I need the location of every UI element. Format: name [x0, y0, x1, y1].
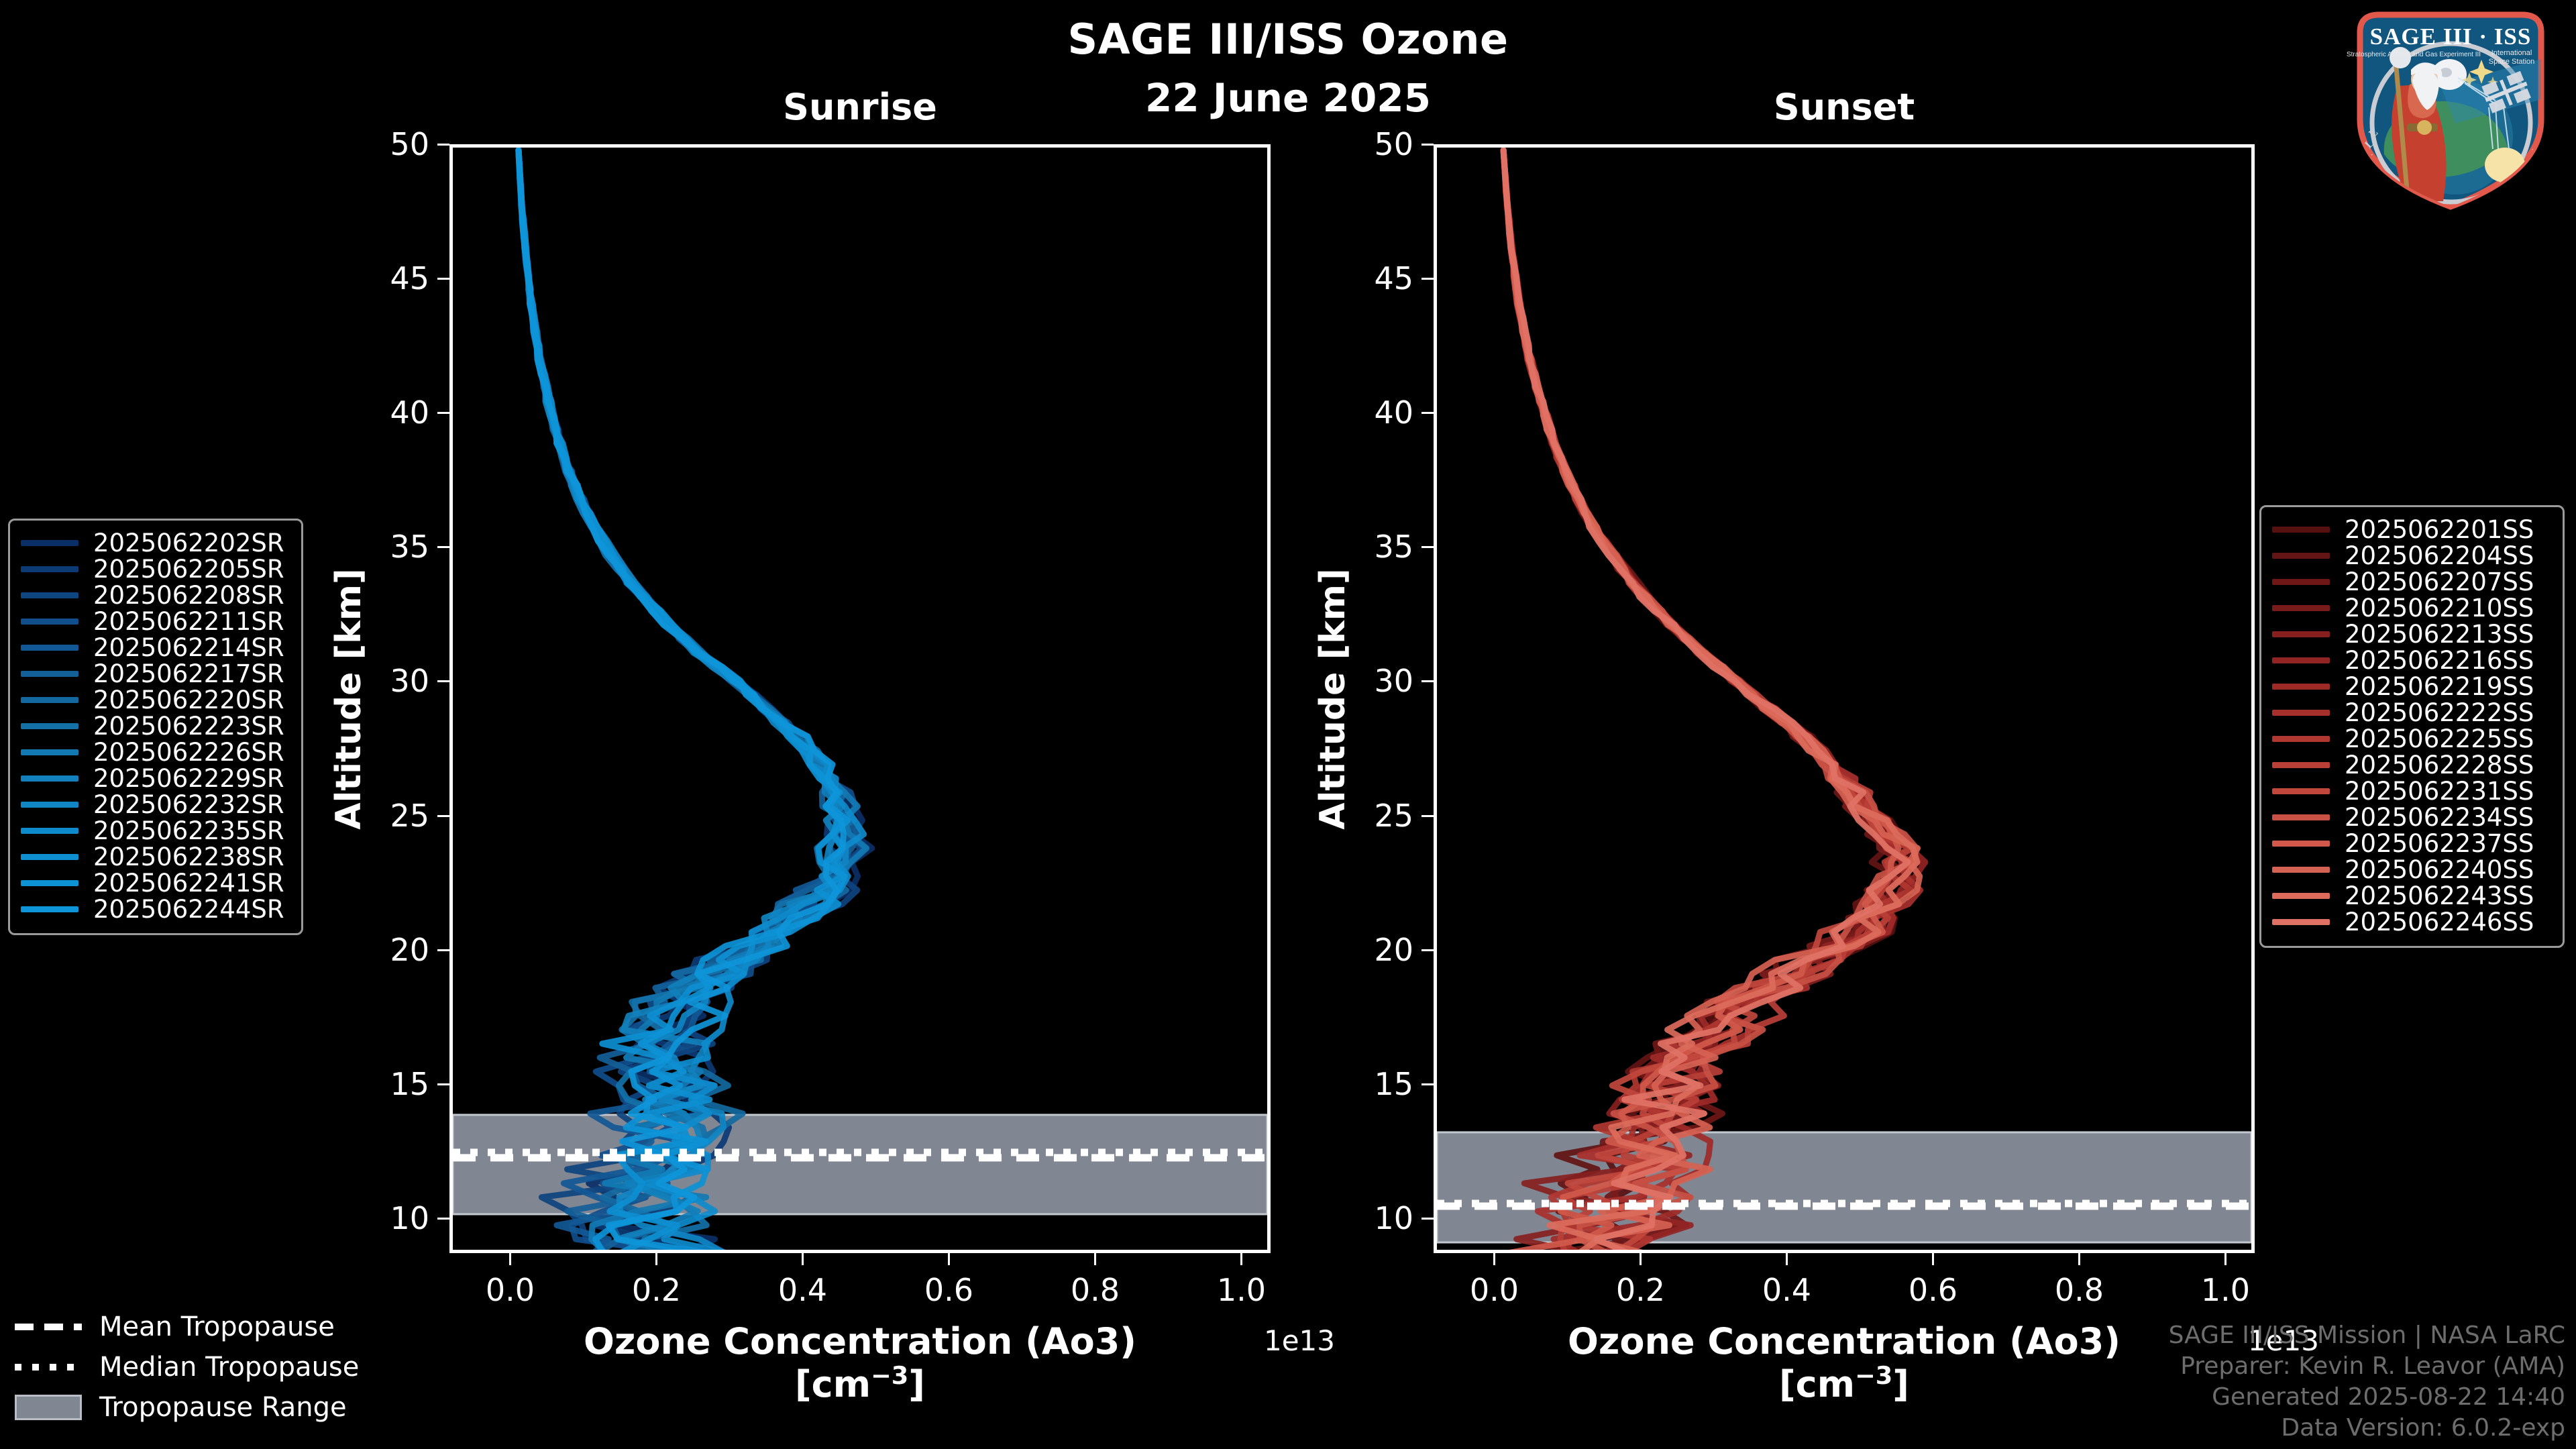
x-tick [1240, 1253, 1242, 1265]
legend-item-label: 2025062241SR [93, 869, 284, 898]
legend-color-swatch [21, 540, 78, 546]
legend-color-swatch [2272, 867, 2330, 873]
legend-item[interactable]: 2025062219SS [2272, 674, 2552, 700]
legend-color-swatch [2272, 736, 2330, 742]
y-tick [437, 546, 449, 548]
tropopause-range-icon [15, 1394, 82, 1421]
svg-text:S: S [2532, 156, 2546, 168]
legend-item-label: 2025062232SR [93, 790, 284, 819]
x-axis-exponent-sunrise: 1e13 [1264, 1324, 1335, 1357]
x-tick-label: 0.8 [1071, 1272, 1120, 1308]
legend-item[interactable]: 2025062243SS [2272, 883, 2552, 909]
legend-color-swatch [2272, 657, 2330, 663]
legend-item-label: 2025062231SS [2345, 777, 2534, 806]
legend-color-swatch [2272, 919, 2330, 925]
x-tick-label: 0.4 [1762, 1272, 1811, 1308]
legend-item-label: 2025062226SR [93, 738, 284, 767]
x-tick-label: 0.8 [2055, 1272, 2104, 1308]
svg-text:Space Station: Space Station [2489, 58, 2535, 66]
legend-color-swatch [21, 592, 78, 598]
legend-item-median-tropopause: Median Tropopause [15, 1347, 359, 1387]
legend-item-label: 2025062244SR [93, 895, 284, 924]
legend-item[interactable]: 2025062211SR [21, 608, 290, 635]
y-tick-label: 45 [1313, 260, 1413, 297]
y-axis-label-sunset: Altitude [km] [1313, 511, 1353, 887]
y-tick-label: 15 [1313, 1066, 1413, 1102]
legend-color-swatch [21, 566, 78, 572]
y-tick-label: 20 [1313, 932, 1413, 968]
legend-item[interactable]: 2025062220SR [21, 687, 290, 713]
x-tick [2078, 1253, 2080, 1265]
legend-color-swatch [21, 697, 78, 703]
y-tick-label: 45 [329, 260, 429, 297]
x-tick [655, 1253, 657, 1265]
legend-item[interactable]: 2025062202SR [21, 530, 290, 556]
legend-item-label: 2025062229SR [93, 764, 284, 793]
legend-color-swatch [21, 749, 78, 755]
legend-item-label: 2025062235SR [93, 816, 284, 845]
legend-item-label: 2025062202SR [93, 529, 284, 557]
x-tick-label: 0.2 [632, 1272, 681, 1308]
x-tick [1094, 1253, 1096, 1265]
y-tick-label: 10 [329, 1200, 429, 1236]
legend-item[interactable]: 2025062237SS [2272, 830, 2552, 857]
legend-color-swatch [2272, 684, 2330, 690]
legend-item-label: 2025062204SS [2345, 541, 2534, 570]
legend-color-swatch [2272, 788, 2330, 794]
legend-color-swatch [2272, 893, 2330, 899]
legend-item[interactable]: 2025062204SS [2272, 543, 2552, 569]
legend-item[interactable]: 2025062241SR [21, 870, 290, 896]
legend-item-label: 2025062234SS [2345, 803, 2534, 832]
legend-item-label: 2025062225SS [2345, 724, 2534, 753]
legend-color-swatch [2272, 841, 2330, 847]
legend-item-label: 2025062217SR [93, 659, 284, 688]
legend-color-swatch [21, 775, 78, 782]
y-tick-label: 15 [329, 1066, 429, 1102]
legend-item[interactable]: 2025062201SS [2272, 517, 2552, 543]
x-tick [509, 1253, 511, 1265]
legend-item-label: 2025062228SS [2345, 751, 2534, 780]
series-legend-sunset[interactable]: 2025062201SS2025062204SS2025062207SS2025… [2259, 505, 2565, 948]
x-tick [2224, 1253, 2226, 1265]
legend-color-swatch [2272, 631, 2330, 637]
x-tick-label: 0.6 [1909, 1272, 1957, 1308]
x-tick [1932, 1253, 1934, 1265]
legend-item-tropopause-range: Tropopause Range [15, 1387, 359, 1428]
y-tick [437, 949, 449, 951]
x-tick-label: 0.2 [1616, 1272, 1665, 1308]
legend-item[interactable]: 2025062222SS [2272, 700, 2552, 726]
median-tropopause-icon [15, 1354, 82, 1381]
legend-color-swatch [21, 723, 78, 729]
y-tick-label: 40 [329, 394, 429, 431]
y-tick [437, 815, 449, 817]
legend-item[interactable]: 2025062246SS [2272, 909, 2552, 935]
legend-item[interactable]: 2025062217SR [21, 661, 290, 687]
y-tick [437, 1218, 449, 1220]
credits-line-preparer: Preparer: Kevin R. Leavor (AMA) [2169, 1351, 2565, 1382]
legend-color-swatch [21, 802, 78, 808]
tropopause-range-band [453, 1115, 1267, 1214]
x-tick-label: 1.0 [1217, 1272, 1266, 1308]
x-axis-label-line1: Ozone Concentration (Ao3) [1434, 1322, 2255, 1362]
page-title: SAGE III/ISS Ozone [0, 15, 2576, 64]
legend-item-label: 2025062210SS [2345, 594, 2534, 623]
x-tick [1493, 1253, 1495, 1265]
mean-tropopause-label: Mean Tropopause [99, 1311, 335, 1342]
legend-item-label: 2025062220SR [93, 686, 284, 714]
x-axis-label-sunrise: Ozone Concentration (Ao3)[cm−3] [449, 1322, 1271, 1405]
x-axis-label-line2: [cm−3] [1434, 1362, 2255, 1405]
legend-item-label: 2025062238SR [93, 843, 284, 871]
x-tick [1640, 1253, 1642, 1265]
legend-item-label: 2025062214SR [93, 633, 284, 662]
legend-color-swatch [21, 671, 78, 677]
svg-text:Stratospheric Aerosol and Gas: Stratospheric Aerosol and Gas Experiment… [2347, 51, 2481, 58]
legend-item[interactable]: 2025062216SS [2272, 647, 2552, 674]
legend-item[interactable]: 2025062214SR [21, 635, 290, 661]
legend-item[interactable]: 2025062238SR [21, 844, 290, 870]
y-tick [437, 278, 449, 280]
y-tick [1421, 1083, 1434, 1085]
legend-item-label: 2025062211SR [93, 607, 284, 636]
y-tick-label: 10 [1313, 1200, 1413, 1236]
credits-line-mission: SAGE III/ISS Mission | NASA LaRC [2169, 1320, 2565, 1351]
legend-color-swatch [2272, 605, 2330, 611]
legend-item[interactable]: 2025062208SR [21, 582, 290, 608]
y-tick [1421, 412, 1434, 414]
y-tick [437, 680, 449, 682]
legend-color-swatch [21, 619, 78, 625]
x-axis-label-line2: [cm−3] [449, 1362, 1271, 1405]
legend-item-label: 2025062219SS [2345, 672, 2534, 701]
y-tick [1421, 949, 1434, 951]
legend-color-swatch [21, 854, 78, 860]
plot-area-sunset [1434, 144, 2255, 1253]
legend-item-label: 2025062243SS [2345, 881, 2534, 910]
y-axis-label-sunrise: Altitude [km] [329, 511, 369, 887]
legend-item-label: 2025062240SS [2345, 855, 2534, 884]
y-tick [1421, 815, 1434, 817]
tropopause-legend: Mean Tropopause Median Tropopause Tropop… [15, 1307, 359, 1428]
y-tick [1421, 1218, 1434, 1220]
y-tick [1421, 144, 1434, 146]
y-tick [1421, 278, 1434, 280]
x-tick [802, 1253, 804, 1265]
legend-item[interactable]: 2025062210SS [2272, 595, 2552, 621]
series-legend-sunrise[interactable]: 2025062202SR2025062205SR2025062208SR2025… [8, 519, 303, 935]
mean-tropopause-icon [15, 1313, 82, 1340]
x-tick [1786, 1253, 1788, 1265]
legend-color-swatch [21, 906, 78, 912]
legend-item-label: 2025062207SS [2345, 568, 2534, 596]
svg-text:A: A [2531, 169, 2546, 182]
legend-item[interactable]: 2025062205SR [21, 556, 290, 582]
legend-item-label: 2025062205SR [93, 555, 284, 584]
legend-color-swatch [2272, 762, 2330, 768]
y-tick-label: 50 [329, 126, 429, 162]
legend-color-swatch [2272, 579, 2330, 585]
credits-line-version: Data Version: 6.0.2-exp [2169, 1413, 2565, 1444]
legend-item[interactable]: 2025062229SR [21, 765, 290, 792]
x-tick [948, 1253, 950, 1265]
legend-item-label: 2025062223SR [93, 712, 284, 741]
legend-item[interactable]: 2025062232SR [21, 792, 290, 818]
y-tick [1421, 680, 1434, 682]
panel-title-sunset: Sunset [1434, 86, 2255, 128]
legend-item[interactable]: 2025062234SS [2272, 804, 2552, 830]
credits-block: SAGE III/ISS Mission | NASA LaRC Prepare… [2169, 1320, 2565, 1444]
legend-item-label: 2025062213SS [2345, 620, 2534, 649]
panel-title-sunrise: Sunrise [449, 86, 1271, 128]
legend-item[interactable]: 2025062207SS [2272, 569, 2552, 595]
y-tick [437, 144, 449, 146]
x-tick-label: 1.0 [2201, 1272, 2250, 1308]
y-tick [437, 412, 449, 414]
legend-item-label: 2025062216SS [2345, 646, 2534, 675]
legend-item[interactable]: 2025062231SS [2272, 778, 2552, 804]
sage-iii-iss-logo: B A L L E S A SAGE III · ISS Stratospher… [2340, 5, 2561, 213]
y-tick-label: 20 [329, 932, 429, 968]
y-tick-label: 50 [1313, 126, 1413, 162]
legend-item-label: 2025062246SS [2345, 908, 2534, 936]
x-axis-label-sunset: Ozone Concentration (Ao3)[cm−3] [1434, 1322, 2255, 1405]
svg-text:SAGE III · ISS: SAGE III · ISS [2370, 23, 2532, 50]
profile-line [1503, 150, 1917, 1250]
legend-color-swatch [2272, 710, 2330, 716]
plot-area-sunrise [449, 144, 1271, 1253]
legend-item[interactable]: 2025062235SR [21, 818, 290, 844]
x-tick-label: 0.0 [486, 1272, 535, 1308]
credits-line-generated: Generated 2025-08-22 14:40 [2169, 1382, 2565, 1413]
legend-color-swatch [21, 880, 78, 886]
x-tick-label: 0.0 [1470, 1272, 1519, 1308]
x-axis-label-line1: Ozone Concentration (Ao3) [449, 1322, 1271, 1362]
legend-color-swatch [2272, 527, 2330, 533]
legend-color-swatch [21, 828, 78, 834]
y-tick-label: 40 [1313, 394, 1413, 431]
x-tick-label: 0.6 [924, 1272, 973, 1308]
legend-color-swatch [21, 645, 78, 651]
legend-color-swatch [2272, 553, 2330, 559]
median-tropopause-label: Median Tropopause [99, 1352, 359, 1383]
legend-item[interactable]: 2025062223SR [21, 713, 290, 739]
legend-item-label: 2025062237SS [2345, 829, 2534, 858]
legend-item-label: 2025062208SR [93, 581, 284, 610]
legend-item[interactable]: 2025062244SR [21, 896, 290, 922]
y-tick [1421, 546, 1434, 548]
legend-item[interactable]: 2025062225SS [2272, 726, 2552, 752]
legend-item[interactable]: 2025062240SS [2272, 857, 2552, 883]
legend-item-label: 2025062201SS [2345, 515, 2534, 544]
svg-text:International: International [2491, 49, 2532, 57]
legend-item[interactable]: 2025062228SS [2272, 752, 2552, 778]
legend-item-label: 2025062222SS [2345, 698, 2534, 727]
legend-item[interactable]: 2025062226SR [21, 739, 290, 765]
tropopause-range-label: Tropopause Range [99, 1392, 347, 1423]
legend-item-mean-tropopause: Mean Tropopause [15, 1307, 359, 1347]
y-tick [437, 1083, 449, 1085]
x-tick-label: 0.4 [778, 1272, 827, 1308]
legend-color-swatch [2272, 814, 2330, 820]
legend-item[interactable]: 2025062213SS [2272, 621, 2552, 647]
